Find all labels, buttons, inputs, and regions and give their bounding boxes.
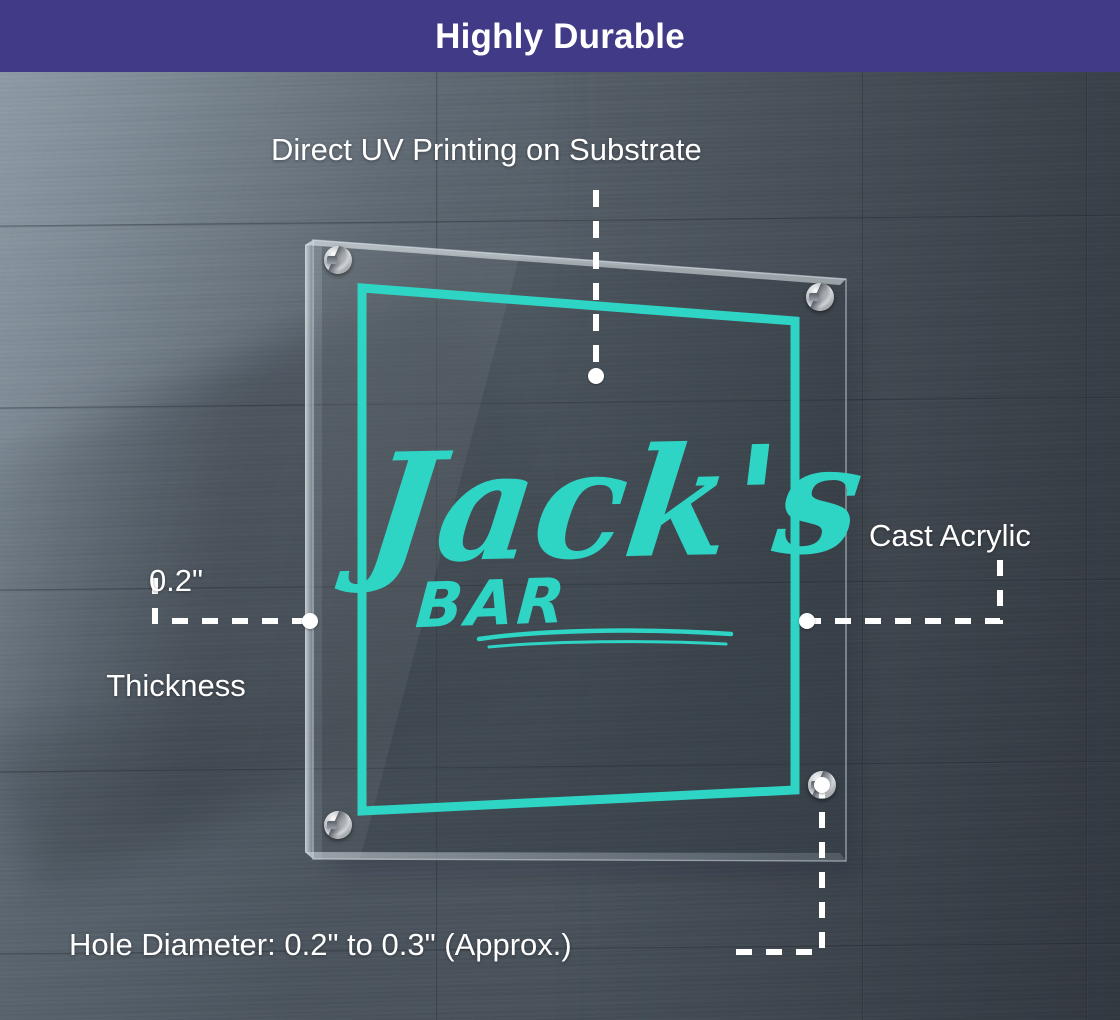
callout-thickness-label: Thickness	[66, 669, 286, 704]
callout-thickness: 0.2" Thickness	[66, 495, 286, 773]
banner-title: Highly Durable	[435, 19, 685, 54]
standoff-screw-bottom-right	[808, 771, 836, 799]
grout-line-vertical	[862, 72, 864, 1020]
grout-line-horizontal	[0, 214, 1120, 228]
callout-hole-diameter: Hole Diameter: 0.2" to 0.3" (Approx.)	[69, 928, 572, 963]
grout-line-vertical	[1086, 72, 1088, 1020]
callout-uv-printing: Direct UV Printing on Substrate	[271, 133, 702, 168]
header-banner: Highly Durable	[0, 0, 1120, 72]
wall-right-shading	[560, 72, 1120, 1020]
standoff-screw-bottom-left	[324, 811, 352, 839]
grout-line-vertical	[436, 72, 438, 1020]
standoff-screw-top-right	[806, 283, 834, 311]
callout-thickness-value: 0.2"	[66, 564, 286, 599]
grout-line-horizontal	[0, 396, 1120, 410]
infographic-canvas: Highly Durable	[0, 0, 1120, 1020]
standoff-screw-top-left	[324, 246, 352, 274]
callout-cast-acrylic: Cast Acrylic	[869, 519, 1031, 554]
